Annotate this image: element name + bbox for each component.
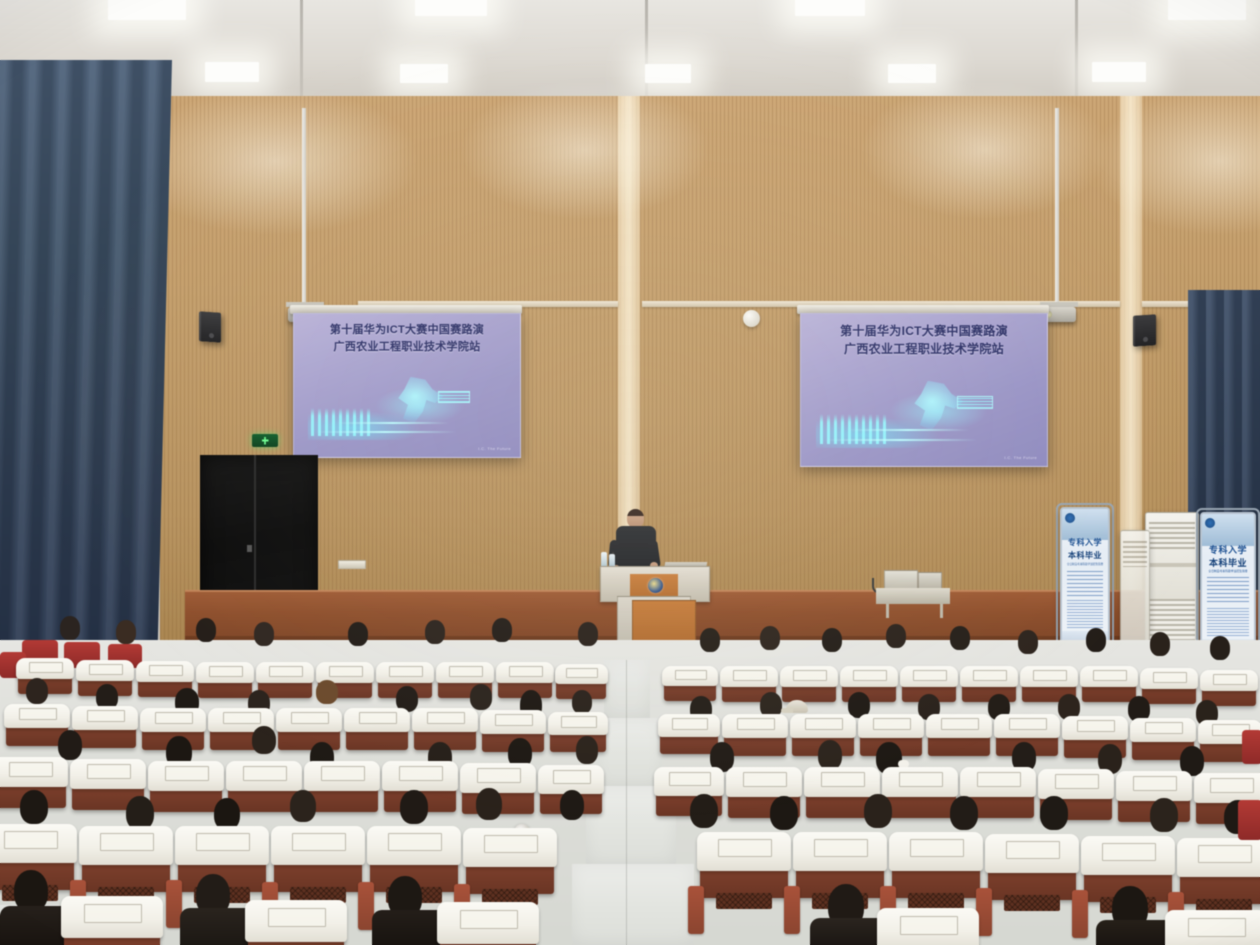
audience-head — [1018, 630, 1038, 654]
exit-person-icon — [262, 437, 269, 445]
slide-title-line1: 第十届华为ICT大赛中国赛路演 — [801, 324, 1047, 339]
slide-chip-graphic — [957, 396, 992, 408]
seat — [82, 830, 170, 892]
seat-cover — [548, 712, 607, 736]
poster-right[interactable]: 专科入学 本科毕业 全日制自考本科助学班招生简章 — [1200, 512, 1256, 660]
wall-outlet — [338, 560, 366, 569]
projection-screen-left: 第十届华为ICT大赛中国赛路演 广西农业工程职业技术学院站 I.C. The F… — [293, 313, 521, 458]
slide-title-line2: 广西农业工程职业技术学院站 — [801, 342, 1047, 357]
seat-cover — [726, 767, 802, 797]
seat-pocket — [1133, 776, 1178, 790]
seat-pocket — [165, 766, 210, 780]
seat-pocket — [9, 762, 54, 776]
seat-pocket — [561, 716, 596, 728]
seat-cover — [994, 714, 1060, 739]
slide-title-line2: 广西农业工程职业技术学院站 — [294, 340, 520, 354]
ceiling-beam — [300, 0, 303, 108]
seat-pocket — [675, 670, 708, 681]
door-handle — [247, 545, 252, 552]
seat-pocket — [100, 833, 154, 851]
seat — [884, 770, 956, 818]
seat-pocket — [449, 666, 483, 677]
seat-mesh-pocket — [1004, 895, 1060, 911]
seat-pocket — [805, 718, 844, 730]
seat-cover — [780, 666, 837, 687]
seat-cover — [304, 761, 380, 791]
seat-cover — [1116, 771, 1192, 801]
audience-head — [1150, 798, 1178, 832]
baseball-cap — [786, 700, 808, 713]
audience-head — [576, 736, 598, 764]
seat-pocket — [733, 670, 767, 681]
institution-logo-icon — [1065, 513, 1075, 523]
seat-cover — [271, 826, 364, 864]
seat-cover — [900, 666, 957, 687]
wall-light-glow — [860, 80, 1110, 220]
seat-cover — [256, 662, 313, 683]
seat-cover — [1165, 910, 1260, 945]
seat — [1082, 668, 1136, 702]
ceiling-light — [795, 0, 865, 16]
seat — [1142, 670, 1196, 704]
audience-head — [818, 740, 842, 770]
poster-heading-1: 专科入学 — [1062, 537, 1108, 548]
stage-curtain-left — [0, 60, 172, 660]
seat-pocket — [460, 910, 519, 930]
seat-pocket — [1009, 718, 1048, 730]
seat-cover — [76, 660, 133, 681]
seat-pocket — [321, 766, 366, 780]
seat — [440, 906, 536, 945]
seat-pocket — [427, 712, 466, 724]
seat-cover — [196, 662, 253, 683]
seat — [962, 668, 1016, 702]
poster-subheading: 全日制自考本科助学班招生简章 — [1066, 562, 1105, 566]
seat-cover — [1177, 838, 1260, 876]
seat-pocket — [737, 718, 776, 730]
seat-pocket — [243, 766, 288, 780]
auditorium-photo: 第十届华为ICT大赛中国赛路演 广西农业工程职业技术学院站 I.C. The F… — [0, 0, 1260, 945]
seat-pocket — [718, 839, 772, 857]
audience-head — [116, 620, 136, 644]
seat-cover — [412, 708, 478, 733]
seat-cover — [175, 826, 268, 864]
seat-pocket — [484, 835, 538, 853]
seat-cover — [367, 826, 460, 864]
audience-head — [196, 618, 216, 642]
table-leg — [886, 604, 889, 618]
seat — [64, 900, 160, 945]
smoke-detector-icon — [743, 310, 760, 327]
seat-cover — [1080, 666, 1137, 687]
seat-cover — [697, 832, 790, 870]
seat-pocket — [899, 772, 944, 786]
slide-artwork — [308, 374, 489, 440]
seat-cover — [1140, 668, 1197, 689]
seat — [988, 838, 1076, 900]
seat — [346, 710, 408, 750]
seat-pocket — [1055, 774, 1100, 788]
seat-cover — [1194, 773, 1260, 803]
seat-cover — [1062, 716, 1128, 741]
audience-head — [290, 790, 316, 822]
seat-pocket — [269, 666, 303, 677]
poster-heading-2: 本科毕业 — [1062, 550, 1108, 561]
seat-cover — [0, 824, 77, 862]
seat — [274, 830, 362, 892]
wall-speaker-left — [199, 311, 221, 343]
audience-head — [700, 628, 720, 652]
ceiling-beam — [1075, 0, 1078, 108]
seat-cover — [480, 710, 546, 735]
seat-cover — [437, 902, 539, 944]
seat-cover — [840, 666, 897, 687]
seat — [664, 668, 716, 701]
seat — [1180, 842, 1260, 904]
slide-light-streak — [336, 422, 448, 424]
seat-pocket — [873, 718, 912, 730]
seat-cover — [136, 661, 193, 682]
seat-pocket — [1006, 841, 1060, 859]
seat-pocket — [495, 714, 534, 726]
wall-light-glow — [130, 86, 420, 236]
ceiling-light — [108, 0, 186, 20]
ac-vent-grill — [1149, 522, 1195, 549]
audience-head — [492, 618, 512, 642]
seat-pocket — [29, 662, 63, 673]
seat-pocket — [4, 831, 58, 849]
audience-head — [400, 790, 428, 824]
ceiling-light — [415, 0, 487, 16]
seat-cover — [926, 714, 992, 739]
seat-pocket — [1153, 672, 1187, 683]
ceiling-light — [1092, 62, 1146, 82]
seat-pocket — [509, 666, 543, 677]
seat — [724, 716, 786, 756]
seat-pocket — [329, 666, 363, 677]
seat-pocket — [1077, 720, 1116, 732]
ceiling — [0, 0, 1260, 108]
seat-pocket — [155, 712, 194, 724]
seat-mesh-pocket — [716, 893, 772, 909]
audience-head — [214, 798, 240, 830]
projection-screen-right: 第十届华为ICT大赛中国赛路演 广西农业工程职业技术学院站 I.C. The F… — [800, 313, 1048, 467]
seat-pocket — [268, 908, 327, 928]
seat-cover — [662, 666, 717, 686]
seat-cover — [460, 763, 536, 793]
seat-cover — [79, 826, 172, 864]
audience-head — [58, 730, 82, 760]
seat-cover — [1038, 769, 1114, 799]
audience-head — [126, 796, 154, 830]
seat-pocket — [1213, 674, 1247, 685]
table-leg — [940, 604, 943, 618]
seat-pocket — [1033, 670, 1067, 681]
seat — [198, 664, 252, 698]
seat — [278, 710, 340, 750]
ceiling-beam — [645, 0, 648, 108]
seat — [74, 708, 136, 748]
seat-cover — [226, 761, 302, 791]
audience-head — [1086, 628, 1106, 652]
ac-band — [1148, 563, 1196, 567]
wall-light-glow — [460, 80, 710, 220]
seat-pocket — [149, 665, 183, 676]
audience-head — [572, 690, 592, 714]
audience-head — [770, 796, 798, 830]
audience-head — [470, 684, 492, 710]
seat-cover — [882, 767, 958, 797]
poster-table — [1207, 608, 1249, 637]
seat-pocket — [389, 666, 423, 677]
seat-cover — [793, 832, 886, 870]
slide-light-streak — [824, 439, 978, 441]
center-aisle — [604, 660, 650, 720]
seat-cover — [276, 708, 342, 733]
seat-cover — [496, 662, 553, 683]
seat-pocket — [89, 664, 123, 675]
slide-watermark: I.C. The Future — [1004, 455, 1037, 460]
poster-body-text — [1067, 571, 1104, 596]
seat-cover — [722, 714, 788, 739]
center-aisle — [572, 864, 694, 945]
projector-mount-pole — [1055, 108, 1059, 303]
audience-head — [578, 622, 598, 646]
seat — [782, 668, 836, 702]
audience-head — [760, 626, 780, 650]
audience-head — [252, 726, 276, 754]
seat-pocket — [553, 770, 592, 784]
ceiling-light — [888, 64, 936, 83]
seat-pocket — [1198, 845, 1252, 863]
ceiling-light — [205, 62, 259, 82]
seat-cover — [960, 666, 1017, 687]
audience-head — [1150, 632, 1170, 656]
seat-armrest — [688, 886, 704, 934]
seat-pocket — [87, 764, 132, 778]
seat-cover — [889, 832, 982, 870]
seat-cover — [555, 664, 608, 684]
seat-cover — [858, 714, 924, 739]
seat-cover — [245, 900, 347, 942]
audience-head — [560, 790, 584, 820]
poster-subheading: 全日制自考本科助学班招生简章 — [1206, 569, 1250, 573]
seat-cover — [61, 896, 163, 938]
slide-artwork — [816, 378, 1013, 448]
seat-cover — [16, 658, 73, 679]
seat-pocket — [743, 772, 788, 786]
seat-pocket — [913, 670, 947, 681]
audience-head — [950, 626, 970, 650]
seat-cover — [0, 757, 68, 787]
seat-pocket — [1102, 843, 1156, 861]
seat — [1168, 914, 1260, 945]
audience-head — [348, 622, 368, 646]
slide-light-streak — [847, 429, 969, 431]
wall-light-glow — [1090, 86, 1260, 236]
seat-cover — [148, 761, 224, 791]
seat-cover — [463, 828, 556, 866]
seat-pocket — [900, 916, 959, 936]
seat — [306, 764, 378, 812]
audience-head — [864, 794, 892, 828]
seat — [928, 716, 990, 756]
audience-head — [26, 678, 48, 704]
poster-left[interactable]: 专科入学 本科毕业 全日制自考本科助学班招生简章 — [1060, 507, 1110, 651]
poster-heading-1: 专科入学 — [1202, 543, 1254, 556]
seat-mesh-pocket — [908, 893, 964, 909]
slide-title-line1: 第十届华为ICT大赛中国赛路演 — [294, 323, 520, 337]
seat-pocket — [292, 833, 346, 851]
seat-armrest — [784, 886, 800, 934]
seat-cover — [1130, 718, 1196, 743]
seat-cover — [1020, 666, 1077, 687]
seat — [700, 836, 788, 898]
seat-pocket — [1188, 918, 1247, 938]
seat-pocket — [973, 670, 1007, 681]
av-equipment-table — [876, 588, 950, 604]
seat-cover — [877, 908, 979, 945]
seat-cover — [70, 759, 146, 789]
seat-pocket — [910, 839, 964, 857]
seat-cover — [1081, 836, 1174, 874]
exit-sign — [252, 434, 278, 447]
audience-head — [20, 790, 48, 824]
seat-cover — [960, 767, 1036, 797]
seat-pocket — [821, 772, 866, 786]
seat-cover — [436, 662, 493, 683]
seat — [466, 832, 554, 894]
seat-pocket — [977, 772, 1022, 786]
aisle-tile-line — [626, 660, 627, 945]
slide-light-streak — [315, 431, 456, 433]
seat — [892, 836, 980, 898]
seat-uncovered[interactable] — [1242, 730, 1260, 764]
ceiling-light — [1168, 0, 1246, 20]
seat-cover — [4, 704, 70, 729]
audience-head — [1210, 636, 1230, 660]
seat-pocket — [87, 710, 126, 722]
seat-pocket — [399, 766, 444, 780]
seat — [248, 904, 344, 945]
audience-head — [316, 680, 338, 704]
seat-uncovered[interactable] — [1238, 800, 1260, 840]
school-crest-icon — [648, 578, 663, 593]
seat-pocket — [223, 712, 262, 724]
poster-table — [1067, 600, 1104, 628]
seat-pocket — [1145, 722, 1184, 734]
seat-cover — [654, 767, 724, 796]
seat-pocket — [793, 670, 827, 681]
seat-pocket — [814, 839, 868, 857]
seat — [880, 912, 976, 945]
seat-pocket — [359, 712, 398, 724]
seat-pocket — [941, 718, 980, 730]
seat-cover — [72, 706, 138, 731]
seat-pocket — [209, 666, 243, 677]
ceiling-light — [400, 64, 448, 83]
seat-pocket — [388, 833, 442, 851]
seat-cover — [985, 834, 1078, 872]
ac-vent-grill — [1123, 541, 1148, 567]
seat-pocket — [291, 712, 330, 724]
seat-pocket — [477, 768, 522, 782]
seat — [660, 716, 718, 754]
slide-chip-graphic — [438, 391, 471, 403]
audience-head — [476, 788, 502, 820]
seat-pocket — [196, 833, 250, 851]
projector-mount-pole — [302, 108, 306, 303]
seat-pocket — [84, 904, 143, 924]
seat-cover — [382, 761, 458, 791]
seat-pocket — [566, 668, 598, 679]
seat-cover — [804, 767, 880, 797]
seat-pocket — [1210, 778, 1254, 792]
seat-pocket — [669, 772, 710, 786]
seat-cover — [376, 662, 433, 683]
audience-head — [425, 620, 445, 644]
seat-cover — [790, 714, 856, 739]
audience-head — [950, 796, 978, 830]
seat-cover — [720, 666, 777, 687]
wall-speaker-right — [1133, 314, 1156, 347]
seat-pocket — [19, 708, 58, 720]
audience-head — [822, 628, 842, 652]
seat-cover — [658, 714, 719, 738]
audience-head — [690, 794, 718, 828]
seat-pocket — [672, 718, 708, 730]
seat-cover — [1200, 670, 1257, 691]
audience-head — [886, 624, 906, 648]
poster-body-text — [1207, 577, 1249, 603]
seat-pocket — [1093, 670, 1127, 681]
seat-cover — [344, 708, 410, 733]
poster-heading-2: 本科毕业 — [1202, 556, 1254, 569]
seat — [150, 764, 222, 812]
seat-armrest — [1072, 890, 1088, 938]
audience-head — [254, 622, 274, 646]
ceiling-light — [645, 64, 691, 83]
seat-pocket — [853, 670, 887, 681]
audience-head — [1040, 796, 1068, 830]
seat-cover — [140, 708, 206, 733]
audience-head — [60, 616, 80, 640]
slide-watermark: I.C. The Future — [478, 446, 511, 451]
